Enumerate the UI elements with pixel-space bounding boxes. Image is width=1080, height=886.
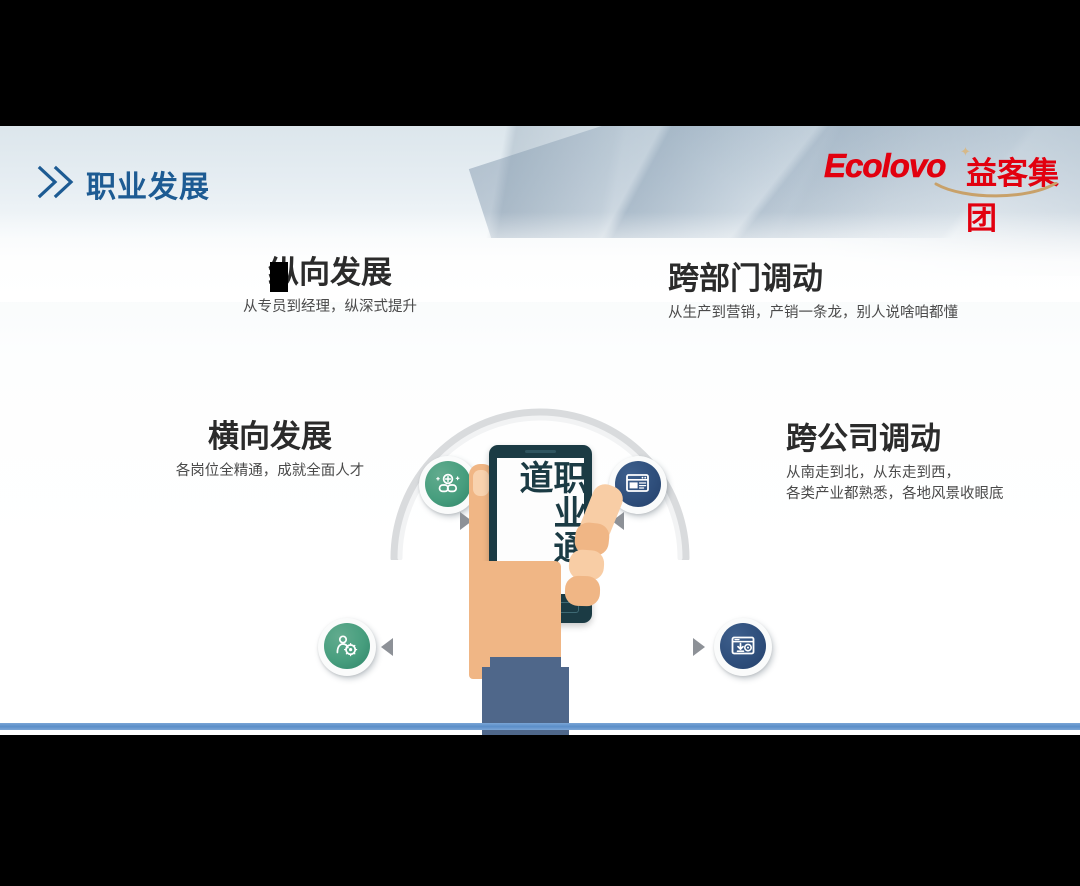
- pointer-triangle-right: [693, 638, 705, 656]
- redaction-block: [270, 262, 288, 292]
- callout-subtitle: 从专员到经理，纵深式提升: [180, 297, 480, 318]
- callout-subtitle: 各岗位全精通，成就全面人才: [120, 461, 420, 482]
- slide-canvas: 职业发展 ✦ Ecolovo 益客集团 纵向发展 从专员到经理，纵深式提升: [0, 126, 1080, 735]
- brand-name-en: Ecolovo: [824, 147, 945, 185]
- logo-swoosh-icon: [934, 182, 1059, 205]
- callout-cross-company[interactable]: 跨公司调动 从南走到北，从东走到西， 各类产业都熟悉，各地风景收眼底: [786, 422, 1080, 505]
- brand-logo: ✦ Ecolovo 益客集团: [824, 146, 1074, 194]
- pointer-triangle-left: [381, 638, 393, 656]
- page-title: 职业发展: [86, 162, 210, 206]
- phone-speaker: [525, 450, 556, 453]
- callout-subtitle: 从南走到北，从东走到西， 各类产业都熟悉，各地风景收眼底: [786, 463, 1080, 505]
- bottom-accent-rule: [0, 723, 1080, 730]
- callout-heading: 跨公司调动: [786, 422, 1080, 457]
- gear-person-icon: [324, 623, 370, 669]
- callout-heading: 横向发展: [120, 420, 420, 455]
- slide-stage: 职业发展 ✦ Ecolovo 益客集团 纵向发展 从专员到经理，纵深式提升: [0, 0, 1080, 886]
- callout-heading: 纵向发展: [180, 256, 480, 291]
- callout-horizontal-growth[interactable]: 横向发展 各岗位全精通，成就全面人才: [120, 420, 420, 482]
- callout-cross-department[interactable]: 跨部门调动 从生产到营销，产销一条龙，别人说啥咱都懂: [668, 262, 968, 324]
- little-finger-shape: [564, 575, 600, 606]
- download-window-icon: [720, 623, 766, 669]
- slide-title-group: 职业发展: [36, 162, 210, 206]
- icon-badge-horizontal-growth[interactable]: [318, 618, 376, 676]
- callout-subtitle: 从生产到营销，产销一条龙，别人说啥咱都懂: [668, 303, 968, 324]
- thumb-nail-shape: [473, 470, 489, 496]
- icon-badge-cross-company[interactable]: [714, 618, 772, 676]
- double-chevron-right-icon: [36, 165, 78, 204]
- callout-heading: 跨部门调动: [668, 262, 968, 297]
- callout-vertical-growth[interactable]: 纵向发展 从专员到经理，纵深式提升: [180, 256, 480, 318]
- link-plus-icon: [425, 461, 471, 507]
